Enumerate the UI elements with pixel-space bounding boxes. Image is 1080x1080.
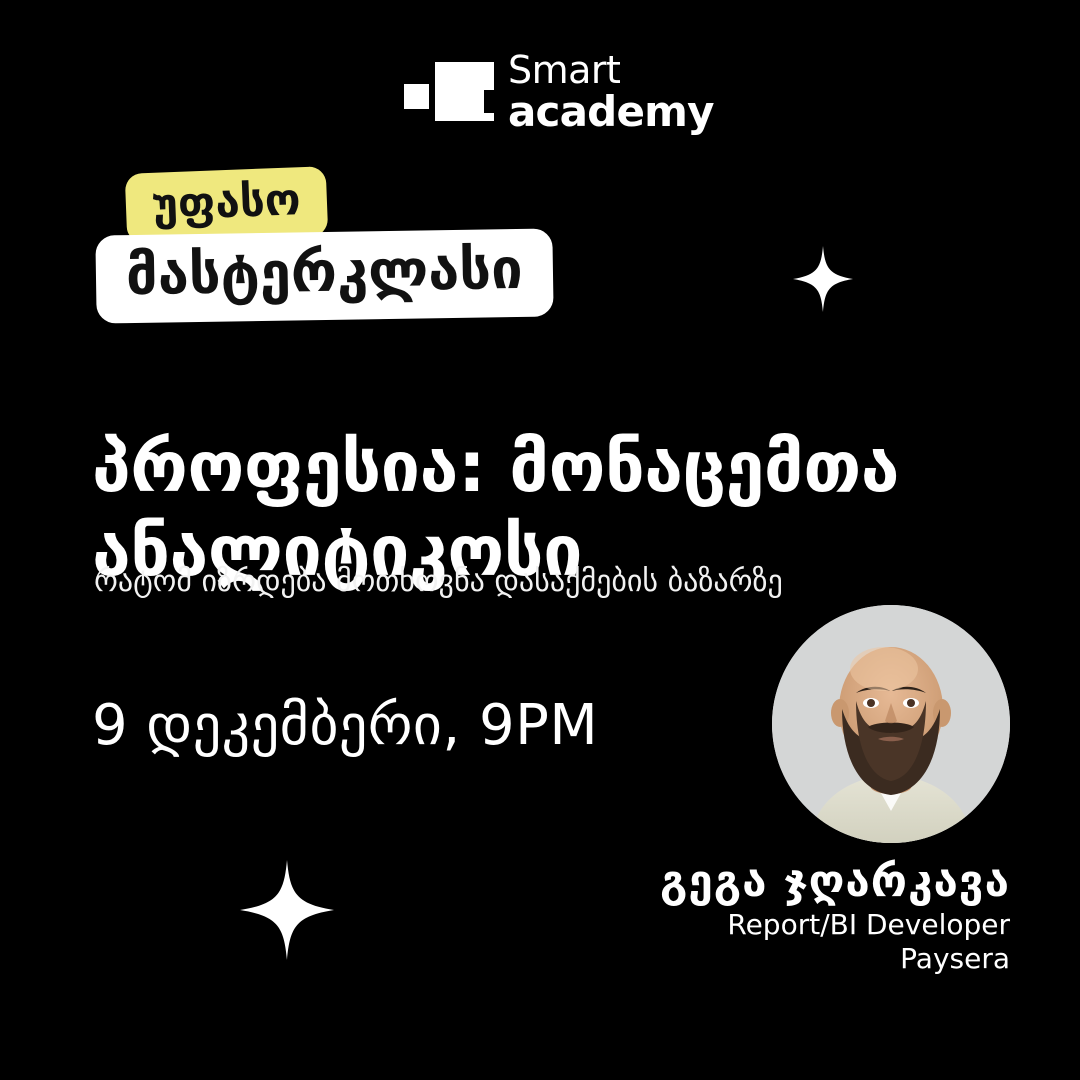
speaker-name: გეგა ჯღარკავა	[450, 856, 1010, 908]
speaker-role: Report/BI Developer	[450, 908, 1010, 942]
page-subtitle: რატომ იზრდება მოთხოვნა დასაქმების ბაზარზ…	[94, 562, 954, 602]
badge-free-label: უფასო	[151, 173, 302, 233]
smart-academy-logo: Smart academy	[404, 52, 694, 134]
page-title-line-1: პროფესია: მონაცემთა	[92, 425, 992, 509]
event-datetime: 9 დეკემბერი, 9PM	[92, 692, 792, 760]
logo-small-square-icon	[404, 84, 429, 109]
badge-masterclass-label: მასტერკლასი	[125, 237, 523, 309]
logo-square-hole-icon	[484, 90, 507, 113]
logo-large-square-icon	[435, 62, 494, 121]
promo-poster: Smart academy უფასო მასტერკლასი პროფესია…	[0, 0, 1080, 1080]
logo-word-academy: academy	[508, 90, 698, 134]
logo-wordmark: Smart academy	[508, 50, 698, 134]
badge-masterclass: მასტერკლასი	[95, 228, 553, 323]
sparkle-icon	[793, 246, 853, 312]
speaker-company: Paysera	[450, 942, 1010, 976]
logo-word-smart: Smart	[508, 50, 698, 90]
sparkle-icon	[240, 860, 334, 960]
speaker-info: გეგა ჯღარკავა Report/BI Developer Payser…	[450, 856, 1010, 976]
logo-mark-icon	[404, 52, 496, 134]
speaker-avatar	[772, 605, 1010, 843]
